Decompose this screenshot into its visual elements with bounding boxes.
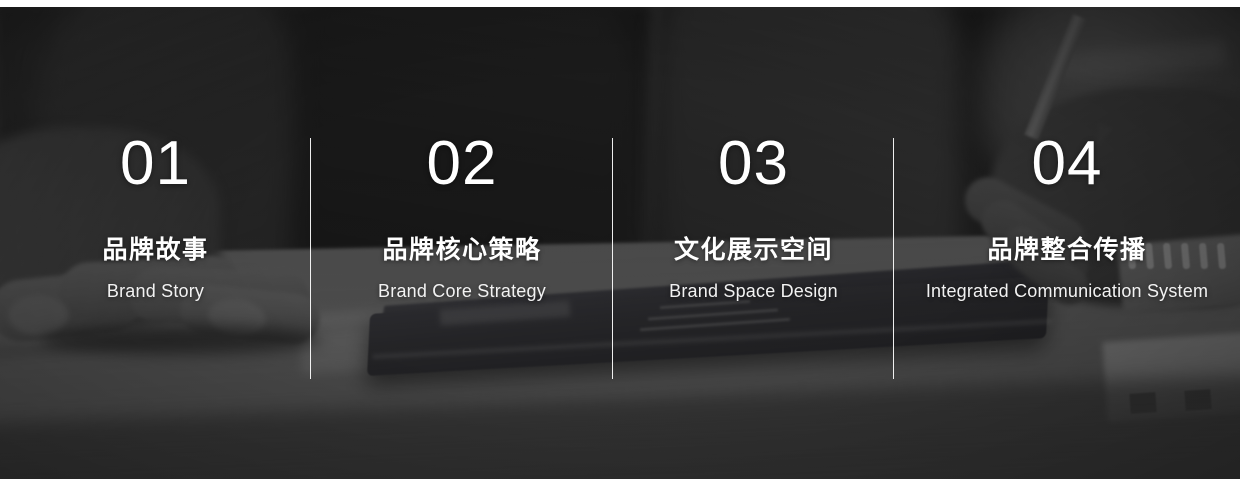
step-column-04[interactable]: 04 品牌整合传播 Integrated Communication Syste… bbox=[894, 7, 1240, 479]
step-number: 02 bbox=[427, 133, 498, 195]
step-title-cn: 品牌核心策略 bbox=[382, 238, 541, 263]
step-title-en: Brand Core Strategy bbox=[378, 282, 546, 300]
step-column-03[interactable]: 03 文化展示空间 Brand Space Design bbox=[613, 7, 894, 479]
step-column-01[interactable]: 01 品牌故事 Brand Story bbox=[0, 7, 311, 479]
step-number: 04 bbox=[1032, 133, 1103, 195]
brand-process-banner: 01 品牌故事 Brand Story 02 品牌核心策略 Brand Core… bbox=[0, 0, 1240, 501]
step-number: 01 bbox=[120, 133, 191, 195]
step-title-en: Brand Space Design bbox=[669, 282, 838, 300]
step-number: 03 bbox=[718, 133, 789, 195]
step-title-cn: 品牌整合传播 bbox=[987, 238, 1146, 263]
step-title-en: Brand Story bbox=[107, 282, 204, 300]
steps-row: 01 品牌故事 Brand Story 02 品牌核心策略 Brand Core… bbox=[0, 7, 1240, 479]
step-title-en: Integrated Communication System bbox=[926, 282, 1208, 300]
step-title-cn: 品牌故事 bbox=[102, 238, 208, 263]
step-column-02[interactable]: 02 品牌核心策略 Brand Core Strategy bbox=[311, 7, 613, 479]
step-title-cn: 文化展示空间 bbox=[674, 238, 833, 263]
